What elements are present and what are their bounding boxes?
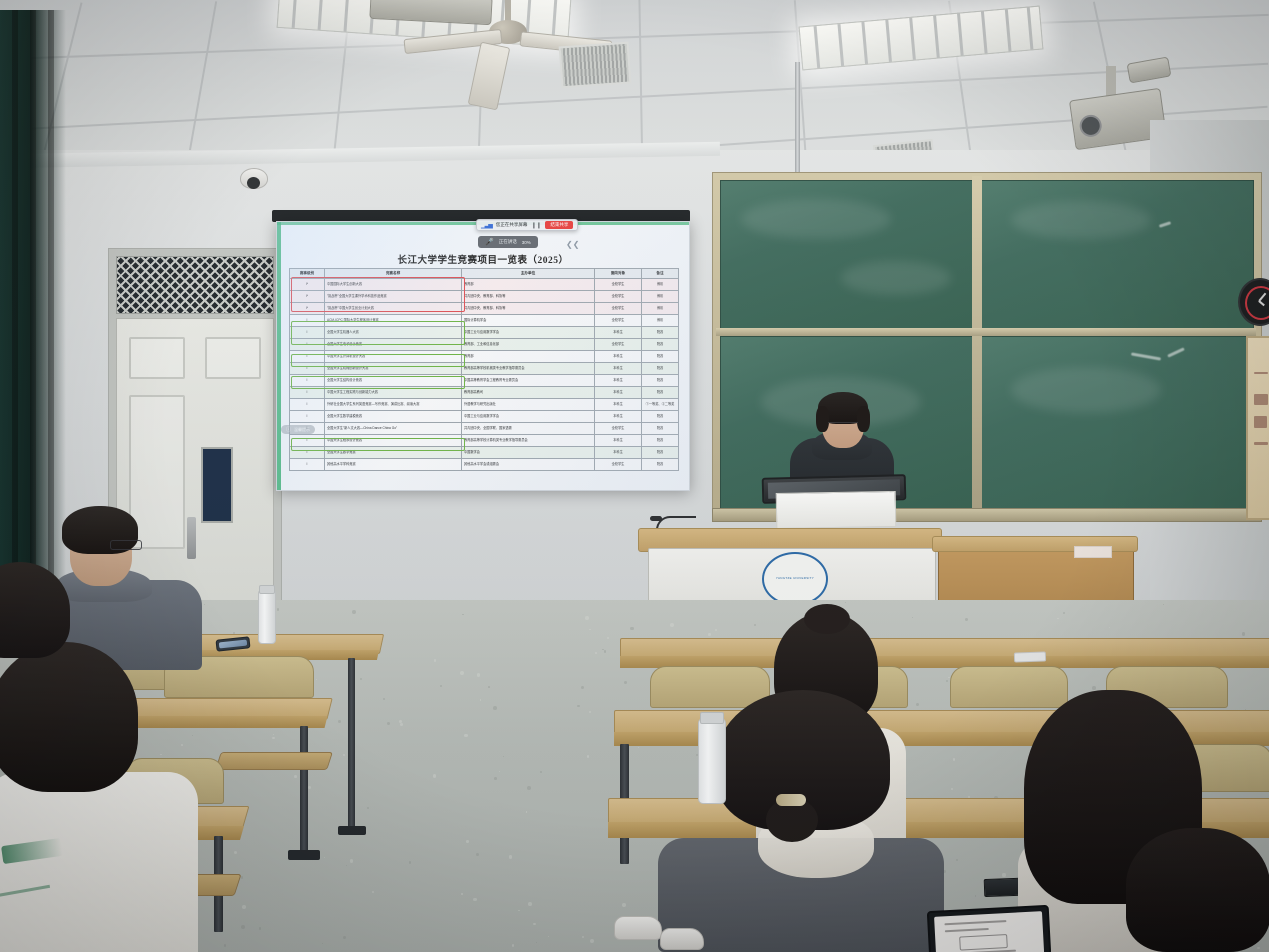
microphone-status-bar[interactable]: 🎤 正在讲话 30% (478, 236, 538, 248)
shoe (660, 928, 704, 950)
tablet-with-notes[interactable] (927, 905, 1051, 952)
floor-speck (241, 876, 243, 878)
competition-table: 赛事级别 竞赛名称 主办单位 面向对象 备注 I*中国国际大学生创新大赛教育部全… (289, 268, 679, 471)
floor-speck (338, 720, 341, 723)
floor-speck (499, 771, 500, 772)
security-camera (240, 168, 268, 189)
hair-tie (776, 794, 806, 806)
student-hair-bun (804, 604, 850, 634)
cell-level: I (290, 339, 325, 351)
water-bottle (258, 590, 276, 644)
table-row: I全国大学生电子设计竞赛教育部、工业和信息化部全校学生院赛 (290, 339, 679, 351)
floor-speck (234, 851, 237, 854)
col-name: 竞赛名称 (325, 269, 462, 279)
cell-note: 院赛 (642, 327, 679, 339)
floor-speck (316, 679, 317, 680)
floor-speck (587, 755, 590, 758)
floor-speck (533, 923, 536, 926)
floor-speck (518, 910, 519, 911)
floor-speck (715, 629, 717, 631)
cell-note: 院赛 (642, 387, 679, 399)
floor-speck (1057, 618, 1058, 619)
cell-audience: 本科生 (595, 363, 642, 375)
mic-label: 正在讲话 (499, 239, 517, 245)
floor-speck (241, 925, 245, 929)
cell-host: 国际计算机学会 (462, 315, 595, 327)
cell-name: 中国大学生程序设计竞赛 (325, 435, 462, 447)
floor-speck (461, 893, 462, 894)
cell-note: 院赛 (642, 339, 679, 351)
desk-leg (300, 726, 308, 854)
table-row: I*"挑战杯"全国大学生课外学术科技作品竞赛共青团中央、教育部、科协等全校学生博… (290, 291, 679, 303)
floor-speck (1109, 627, 1110, 628)
floor-speck (466, 840, 469, 843)
floor-speck (259, 927, 261, 929)
cell-note: 博彩 (642, 315, 679, 327)
table-row: I全国大学生数学竞赛中国数学会本科生院赛 (290, 447, 679, 459)
cell-level: I (290, 375, 325, 387)
cell-host: 教育部高等学校计算机类专业教学指导委员会 (462, 435, 595, 447)
cell-level: I* (290, 303, 325, 315)
floor-speck (975, 895, 976, 896)
blackboard-divider-vertical (972, 176, 982, 516)
floor-speck (604, 650, 606, 652)
presenter-hair-side (816, 406, 829, 432)
floor-speck (367, 807, 369, 809)
cell-name: 中国大学生计算机设计大赛 (325, 351, 462, 363)
floor-speck (630, 627, 633, 630)
remote-control[interactable] (1014, 651, 1046, 662)
floor-speck (528, 902, 532, 906)
floor-speck (670, 623, 674, 627)
cell-host: 中国工业与应用数学学会 (462, 327, 595, 339)
cell-level: I (290, 327, 325, 339)
floor-speck (346, 865, 348, 867)
signal-icon: ▁▃▅ (481, 222, 492, 229)
blackboard-panel-bottom-right (980, 336, 1254, 512)
cell-host: 共青团中央、教育部、科协等 (462, 291, 595, 303)
floor-speck (480, 699, 482, 701)
cell-level: I (290, 387, 325, 399)
cell-level: I* (290, 279, 325, 291)
floor-speck (360, 678, 362, 680)
floor-speck (277, 608, 279, 610)
cell-level: I (290, 363, 325, 375)
cell-audience: 本科生 (595, 447, 642, 459)
cell-audience: 本科生 (595, 351, 642, 363)
cell-level: I* (290, 291, 325, 303)
table-row: I全国大学生结构设计竞赛中国高等教育学会工程教育专业委员会本科生院赛 (290, 375, 679, 387)
floor-speck (477, 673, 480, 676)
floor-speck (589, 711, 591, 713)
ceiling-vent-left (559, 42, 632, 89)
cell-audience: 本科生 (595, 435, 642, 447)
blackboard-panel-top-left (720, 180, 978, 334)
cell-note: 院赛 (642, 363, 679, 375)
floor-speck (294, 775, 297, 778)
table-row: I外研社全国大学生系列英语竞赛—写作竞赛、演讲比赛、阅读大赛外语教学与研究出版社… (290, 399, 679, 411)
floor-speck (1163, 604, 1164, 605)
cell-level: I (290, 459, 325, 471)
cell-host: 中国高等教育学会工程教育专业委员会 (462, 375, 595, 387)
student-right-b (648, 690, 958, 952)
floor-speck (540, 771, 542, 773)
cell-note: 院赛 (642, 435, 679, 447)
bottle-cap (259, 585, 275, 594)
cell-note: 院赛 (642, 411, 679, 423)
podium-emblem: YANGTZE UNIVERSITY (762, 552, 828, 606)
cell-note: 院赛 (642, 447, 679, 459)
floor-speck (350, 859, 353, 862)
projection-screen: 长江大学学生竞赛项目一览表（2025） 赛事级别 竞赛名称 主办单位 面向对象 … (276, 221, 690, 491)
cell-host: 中国数学会 (462, 447, 595, 459)
table-row: I*中国国际大学生创新大赛教育部全校学生博彩 (290, 279, 679, 291)
floor-speck (242, 905, 246, 909)
floor-speck (493, 706, 497, 710)
floor-speck (476, 853, 479, 856)
floor-speck (400, 723, 403, 726)
cell-audience: 本科生 (595, 375, 642, 387)
blackboard-divider-horizontal (716, 328, 1256, 336)
table-row: I其他高水平学科竞赛其他高水平学会或组委会全校学生院赛 (290, 459, 679, 471)
podium-paper (776, 491, 897, 529)
cell-name: "挑战杯"全国大学生课外学术科技作品竞赛 (325, 291, 462, 303)
cell-name: 中国国际大学生创新大赛 (325, 279, 462, 291)
microphone-capsule (650, 516, 662, 521)
floor-speck (1063, 612, 1065, 614)
door-transom-grille (116, 256, 274, 314)
floor-speck (462, 614, 464, 616)
floor-speck (577, 705, 579, 707)
screen-share-toolbar[interactable]: ▁▃▅ 您正在共享屏幕 ❙❙ 结束共享 (476, 219, 578, 231)
col-host: 主办单位 (462, 269, 595, 279)
floor-speck (582, 936, 584, 938)
table-row: I中国大学生工程实践与创新能力大赛教育部高教司本科生院赛 (290, 387, 679, 399)
emblem-label: YANGTZE UNIVERSITY (776, 577, 814, 580)
floor-speck (372, 891, 374, 893)
floor-speck (589, 629, 590, 630)
student-right-edge (1126, 828, 1269, 952)
table-row: I全国大学生机器人大赛中国工业与应用数学学会本科生院赛 (290, 327, 679, 339)
floor-speck (624, 681, 627, 684)
cell-level: I (290, 411, 325, 423)
desk-foot (338, 826, 366, 835)
cell-name: 全国大学生结构设计竞赛 (325, 375, 462, 387)
floor-speck (399, 720, 402, 723)
cell-note: 博彩 (642, 303, 679, 315)
table-header-row: 赛事级别 竞赛名称 主办单位 面向对象 备注 (290, 269, 679, 279)
cell-audience: 全校学生 (595, 303, 642, 315)
floor-speck (460, 671, 464, 675)
cell-note: 博彩 (642, 279, 679, 291)
mic-level: 30% (522, 240, 531, 245)
cell-note: ①一等奖、②二等奖 (642, 399, 679, 411)
cell-note: 博彩 (642, 291, 679, 303)
cell-level: I (290, 435, 325, 447)
col-note: 备注 (642, 269, 679, 279)
cell-name: 全国大学生"新人文大赛—China Dance China Go" (325, 423, 462, 435)
floor-speck (224, 944, 227, 947)
cell-audience: 本科生 (595, 411, 642, 423)
desk-leg (348, 658, 355, 830)
cell-host: 其他高水平学会或组委会 (462, 459, 595, 471)
floor-speck (946, 680, 948, 682)
cell-name: 外研社全国大学生系列英语竞赛—写作竞赛、演讲比赛、阅读大赛 (325, 399, 462, 411)
cell-note: 院赛 (642, 423, 679, 435)
cell-audience: 全校学生 (595, 315, 642, 327)
cell-note: 院赛 (642, 351, 679, 363)
floor-speck (387, 722, 390, 725)
cell-level: I (290, 447, 325, 459)
student-far-left (0, 562, 80, 742)
cell-level: I (290, 399, 325, 411)
cell-name: 全国大学生数学建模竞赛 (325, 411, 462, 423)
table-row: I中国大学生计算机设计大赛教育部本科生院赛 (290, 351, 679, 363)
cell-name: 全国大学生电子设计竞赛 (325, 339, 462, 351)
floor-speck (272, 737, 275, 740)
floor-speck (343, 936, 346, 939)
col-audience: 面向对象 (595, 269, 642, 279)
slide-title: 长江大学学生竞赛项目一览表（2025） (277, 252, 689, 266)
cell-host: 教育部、工业和信息化部 (462, 339, 595, 351)
cell-audience: 全校学生 (595, 459, 642, 471)
cell-host: 中国工业与应用数学学会 (462, 411, 595, 423)
floor-speck (512, 944, 514, 946)
thermos-cap (700, 712, 724, 724)
floor-speck (622, 903, 626, 907)
notice-board (1246, 336, 1269, 520)
floor-speck (509, 855, 513, 859)
classroom-scene: 长江大学学生竞赛项目一览表（2025） 赛事级别 竞赛名称 主办单位 面向对象 … (0, 0, 1269, 952)
floor-speck (585, 616, 588, 619)
cell-audience: 本科生 (595, 387, 642, 399)
cell-note: 院赛 (642, 375, 679, 387)
cell-host: 教育部高教司 (462, 387, 595, 399)
share-status-label: 您正在共享屏幕 (496, 222, 528, 228)
floor-speck (352, 610, 356, 614)
cell-host: 共青团中央、教育部、科协等 (462, 303, 595, 315)
cell-audience: 本科生 (595, 399, 642, 411)
thermos-flask (698, 718, 726, 804)
floor-speck (595, 652, 597, 654)
watermark-text: 温馨提示 (294, 427, 310, 433)
floor-speck (602, 649, 604, 651)
slide-watermark-badge: ⓘ 温馨提示 (281, 425, 315, 434)
student-hair (1126, 828, 1269, 952)
cell-host: 教育部 (462, 279, 595, 291)
floor-speck (434, 659, 437, 662)
desk-foot (288, 850, 320, 860)
floor-speck (638, 747, 639, 748)
col-level: 赛事级别 (290, 269, 325, 279)
cell-level: I (290, 351, 325, 363)
floor-speck (343, 754, 345, 756)
cell-name: 全国大学生数学竞赛 (325, 447, 462, 459)
pause-icon[interactable]: ❙❙ (531, 222, 541, 229)
floor-speck (464, 734, 467, 737)
table-row: I*"挑战杯"中国大学生创业计划大赛共青团中央、教育部、科协等全校学生博彩 (290, 303, 679, 315)
blackboard-panel-top-right (980, 180, 1254, 334)
presenter-hair-side (857, 406, 870, 432)
cell-audience: 全校学生 (595, 291, 642, 303)
floor-speck (433, 774, 436, 777)
microphone-icon[interactable]: 🎤 (485, 238, 494, 246)
floor-speck (440, 685, 443, 688)
shoe (614, 916, 662, 940)
floor-speck (581, 686, 585, 690)
student-glasses (110, 540, 142, 550)
cell-audience: 全校学生 (595, 279, 642, 291)
cell-note: 院赛 (642, 459, 679, 471)
floor-speck (1242, 632, 1245, 635)
floor-speck (409, 861, 411, 863)
cell-audience: 全校学生 (595, 339, 642, 351)
floor-speck (322, 943, 323, 944)
cell-name: 全国大学生机器人大赛 (325, 327, 462, 339)
cell-level: I (290, 315, 325, 327)
cell-host: 教育部高等学校机械类专业教学指导委员会 (462, 363, 595, 375)
floor-speck (324, 857, 325, 858)
table-row: I中国大学生程序设计竞赛教育部高等学校计算机类专业教学指导委员会本科生院赛 (290, 435, 679, 447)
floor-speck (607, 637, 609, 639)
cell-name: 中国大学生工程实践与创新能力大赛 (325, 387, 462, 399)
floor-speck (503, 756, 504, 757)
floor-speck (526, 811, 528, 813)
floor-speck (273, 734, 274, 735)
cell-audience: 全校学生 (595, 423, 642, 435)
watermark-icon: ⓘ (286, 426, 291, 433)
floor-speck (708, 633, 711, 636)
floor-speck (548, 936, 549, 937)
presenter-glasses (828, 422, 858, 428)
floor-speck (308, 786, 311, 789)
floor-speck (527, 786, 531, 790)
sound-wave-icon: ❮❮ (566, 240, 579, 249)
cell-name: ACM-ICPC 国际大学生程序设计竞赛 (325, 315, 462, 327)
table-row: I全国大学生数学建模竞赛中国工业与应用数学学会本科生院赛 (290, 411, 679, 423)
floor-speck (965, 618, 968, 621)
cell-host: 教育部 (462, 351, 595, 363)
cell-audience: 本科生 (595, 327, 642, 339)
floor-speck (494, 777, 497, 780)
floor-speck (590, 939, 594, 943)
table-row: I全国大学生"新人文大赛—China Dance China Go"共青团中央、… (290, 423, 679, 435)
cell-host: 共青团中央、全国学联、国家语委 (462, 423, 595, 435)
seat-pan-left (215, 752, 333, 770)
cell-name: 其他高水平学科竞赛 (325, 459, 462, 471)
cell-host: 外语教学与研究出版社 (462, 399, 595, 411)
floor-speck (488, 686, 490, 688)
cell-name: 全国大学生机械创新设计大赛 (325, 363, 462, 375)
stop-share-button[interactable]: 结束共享 (545, 221, 573, 229)
floor-speck (473, 898, 476, 901)
floor-speck (383, 698, 385, 700)
cabinet-paper (1074, 546, 1112, 558)
student-hair (0, 562, 70, 658)
table-row: IACM-ICPC 国际大学生程序设计竞赛国际计算机学会全校学生博彩 (290, 315, 679, 327)
cell-name: "挑战杯"中国大学生创业计划大赛 (325, 303, 462, 315)
table-row: I全国大学生机械创新设计大赛教育部高等学校机械类专业教学指导委员会本科生院赛 (290, 363, 679, 375)
floor-speck (536, 942, 538, 944)
